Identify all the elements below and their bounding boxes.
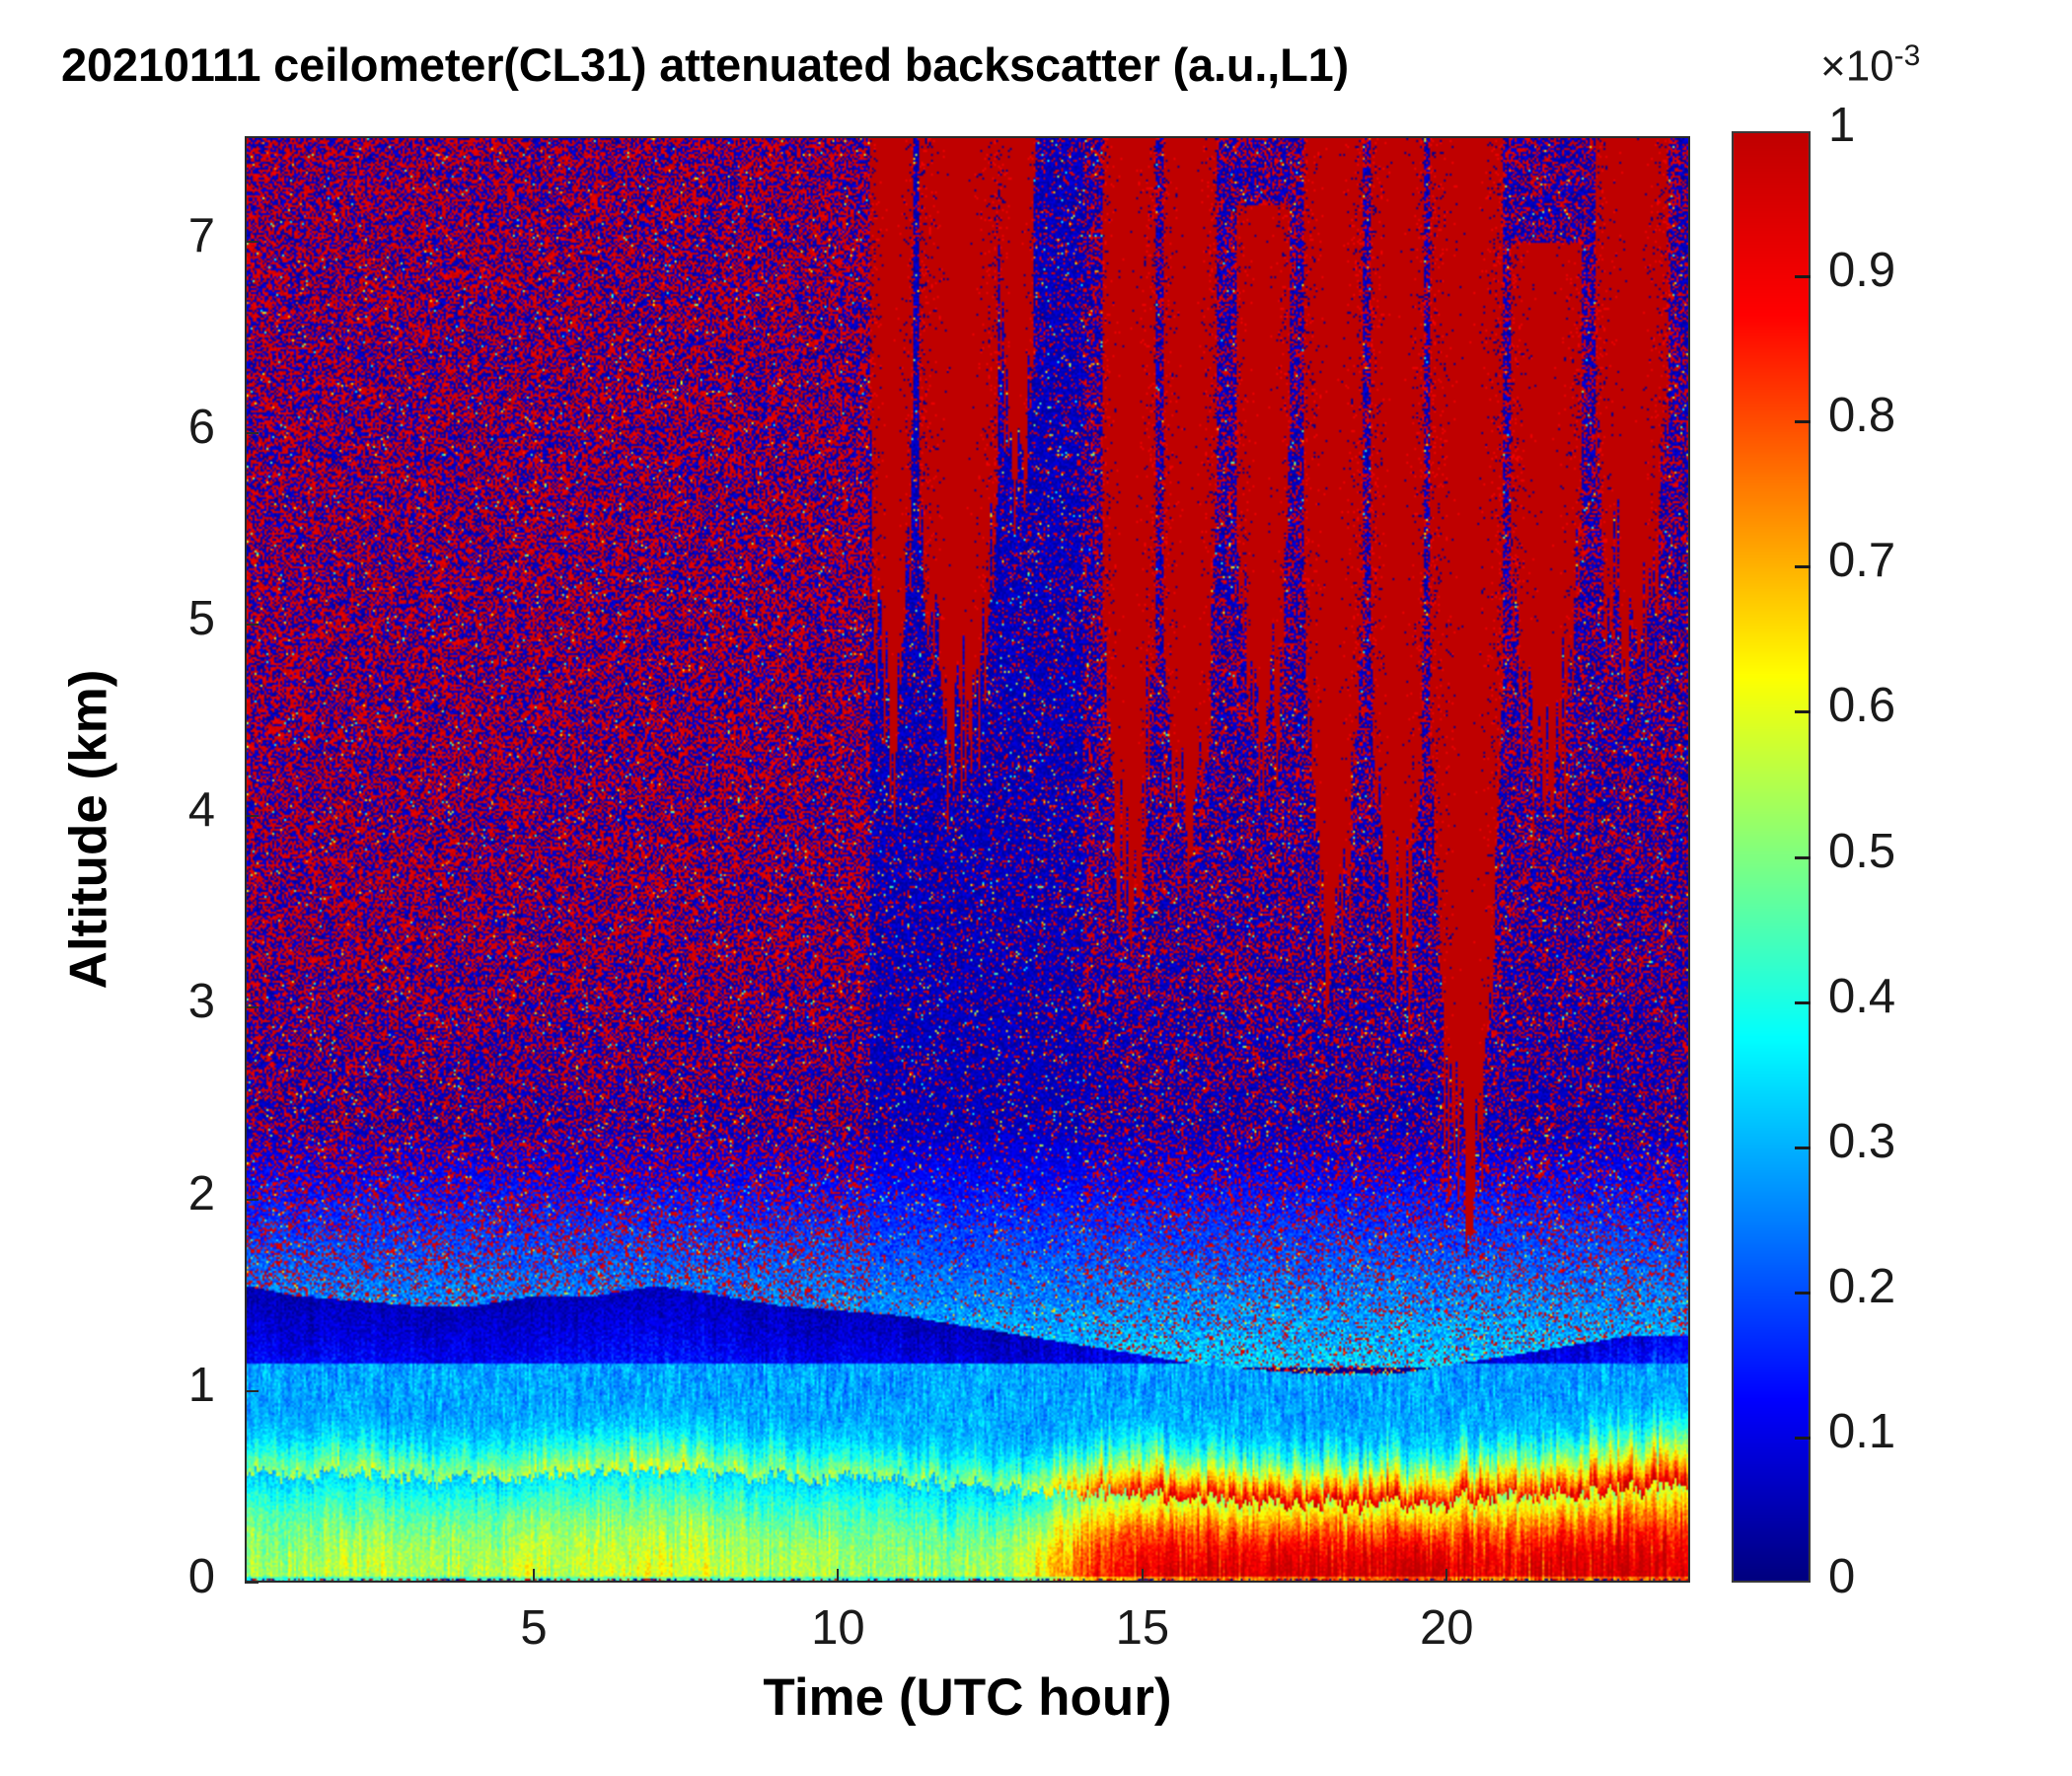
colorbar-exponent-mantissa: ×10 [1820,42,1894,91]
colorbar-tick-label: 0.2 [1828,1259,1895,1314]
x-axis-tick-label: 15 [1044,1600,1241,1656]
y-axis-tick-label: 1 [18,1358,215,1413]
colorbar-tick [1795,565,1811,568]
x-axis-label: Time (UTC hour) [245,1667,1690,1728]
colorbar-tick [1795,1147,1811,1149]
colorbar-tick-label: 0.9 [1828,243,1895,298]
colorbar-tick [1795,856,1811,859]
colorbar-tick [1795,1001,1811,1004]
colorbar-tick [1795,1292,1811,1295]
colorbar-tick [1795,1437,1811,1440]
colorbar-tick [1795,420,1811,423]
x-axis-tick [837,1569,839,1583]
x-axis-tick [533,1569,535,1583]
y-axis-tick [245,1006,259,1008]
heatmap-axes [245,136,1690,1583]
colorbar-tick [1795,710,1811,713]
colorbar-tick-label: 0.6 [1828,678,1895,733]
y-axis-tick [245,241,259,243]
colorbar-tick-label: 0.3 [1828,1114,1895,1169]
x-axis-tick-label: 5 [435,1600,632,1656]
colorbar-tick [1795,275,1811,278]
y-axis-tick-label: 2 [18,1166,215,1221]
x-axis-tick-label: 20 [1348,1600,1545,1656]
colorbar-tick-label: 0.7 [1828,533,1895,588]
x-axis-tick [1445,1569,1447,1583]
colorbar-exponent-power: -3 [1894,39,1921,72]
y-axis-tick [245,1390,259,1392]
x-axis-tick [1142,1569,1144,1583]
y-axis-tick [245,815,259,817]
colorbar-tick-label: 0.1 [1828,1404,1895,1459]
y-axis-tick-label: 4 [18,782,215,838]
y-axis-tick-label: 7 [18,208,215,263]
colorbar-tick-label: 0 [1828,1549,1855,1604]
y-axis-tick-label: 0 [18,1549,215,1604]
page-title: 20210111 ceilometer(CL31) attenuated bac… [61,37,1349,92]
y-axis-tick [245,624,259,626]
y-axis-tick [245,432,259,434]
colorbar-exponent-label: ×10-3 [1820,39,1920,92]
colorbar-tick-label: 0.5 [1828,824,1895,879]
ceilometer-backscatter-figure: 20210111 ceilometer(CL31) attenuated bac… [0,0,2072,1776]
colorbar-tick-label: 1 [1828,98,1855,153]
colorbar-tick-label: 0.4 [1828,969,1895,1024]
y-axis-tick-label: 3 [18,974,215,1029]
backscatter-heatmap [247,138,1690,1583]
y-axis-tick [245,1582,259,1584]
colorbar-tick-label: 0.8 [1828,388,1895,443]
x-axis-tick-label: 10 [739,1600,936,1656]
y-axis-tick-label: 5 [18,591,215,646]
y-axis-tick [245,1199,259,1201]
y-axis-tick-label: 6 [18,400,215,455]
